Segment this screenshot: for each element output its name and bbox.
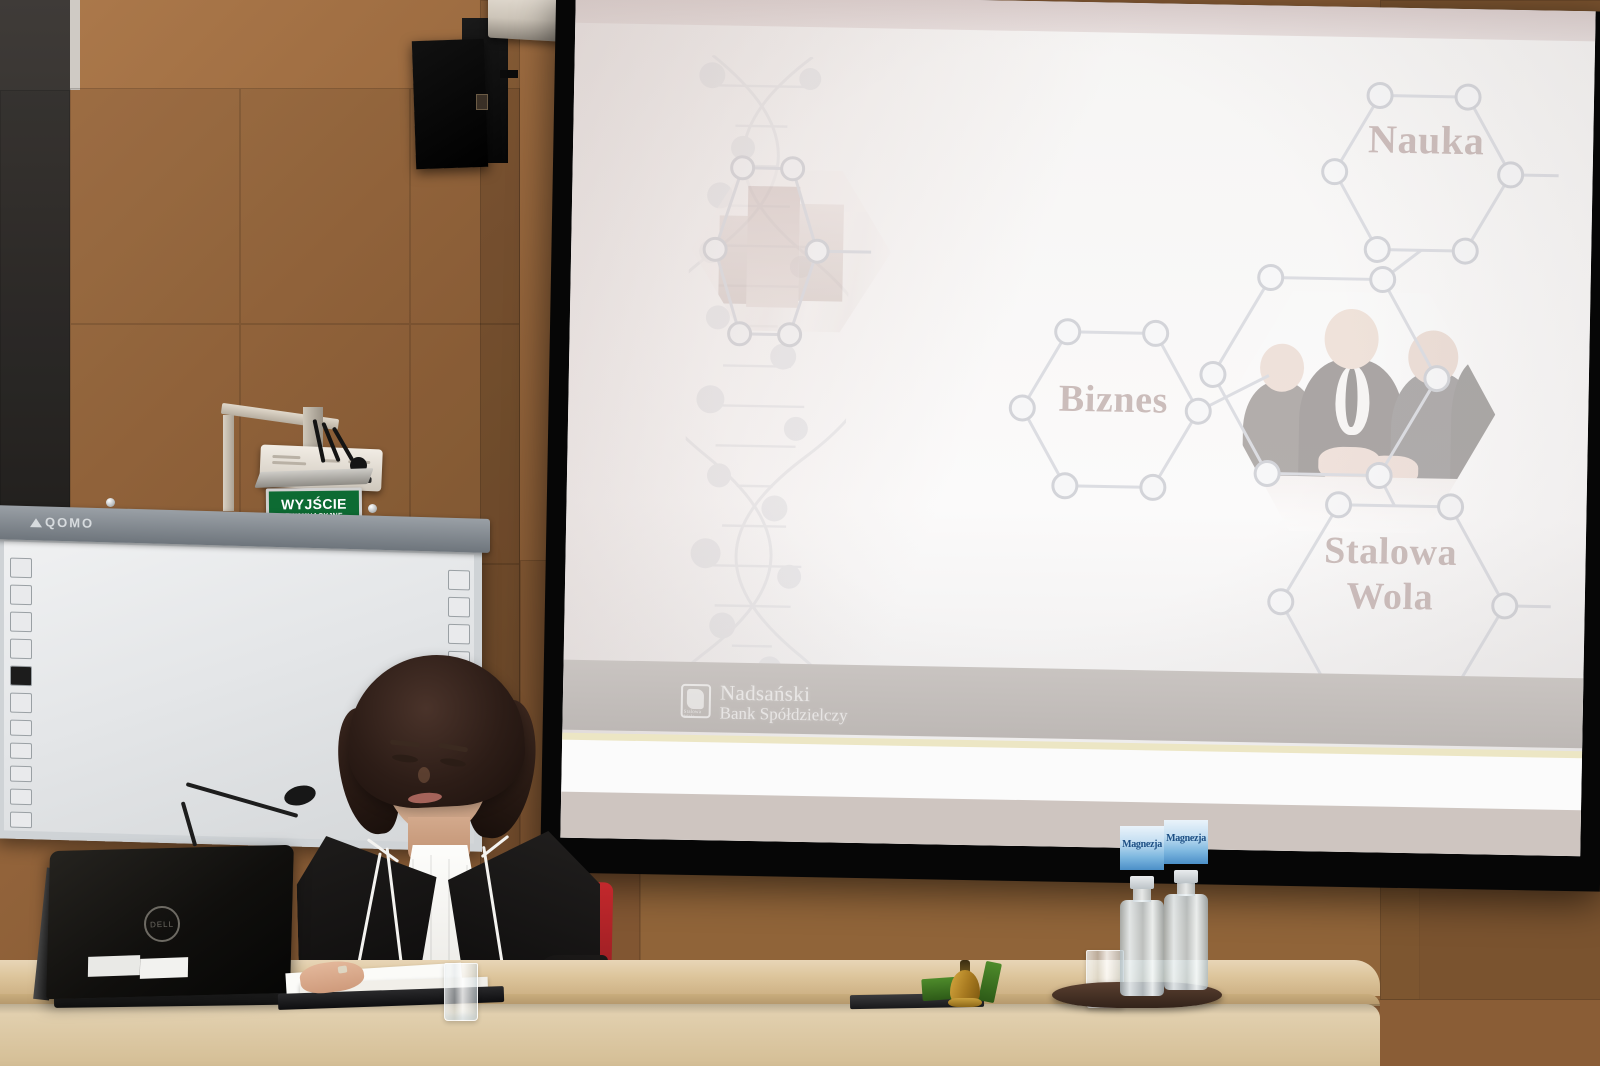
bottle-body (1164, 894, 1208, 990)
presenter-nose (418, 767, 430, 783)
bell-lip (948, 998, 982, 1007)
bank-logo-line2: Bank Spółdzielczy (719, 704, 847, 725)
slide-label-stalowa-line1: Stalowa (1265, 527, 1516, 576)
wall-panel (0, 90, 70, 560)
bottle-neck (1177, 882, 1195, 896)
bottle-cap[interactable] (1174, 870, 1198, 883)
whiteboard-tool-button[interactable] (448, 597, 470, 618)
bank-logo-line1: Nadsański (720, 681, 848, 706)
laptop-sticker (88, 955, 140, 977)
slide-label-nauka: Nauka (1311, 114, 1542, 165)
wall-panel (240, 88, 410, 324)
whiteboard-tool-button[interactable] (448, 570, 470, 591)
slide-label-stalowa-line2: Wola (1265, 572, 1516, 621)
bottle-cap[interactable] (1130, 876, 1154, 889)
screen-surface: Nauka Biznes Stalowa Wola Stal (560, 0, 1595, 856)
presenter-hair (344, 650, 528, 811)
whiteboard-tool-button[interactable] (10, 639, 32, 660)
scene-root: Nauka Biznes Stalowa Wola Stal (0, 0, 1600, 1066)
shield-icon: Stalowa Wola (681, 684, 712, 719)
bank-logo: Stalowa Wola Nadsański Bank Spółdzielczy (680, 681, 848, 725)
bank-logo-text: Nadsański Bank Spółdzielczy (719, 681, 848, 724)
whiteboard-left-toolbar[interactable] (10, 558, 36, 836)
whiteboard-screw (106, 498, 115, 507)
whiteboard-pen-slot[interactable] (10, 789, 32, 806)
dell-laptop[interactable]: DELL (48, 848, 310, 1010)
projection-screen: Nauka Biznes Stalowa Wola Stal (488, 0, 1600, 894)
bottle-neck (1133, 888, 1151, 902)
bank-logo-micro: Stalowa Wola (684, 710, 711, 720)
projector-post (223, 415, 234, 511)
whiteboard-tool-button[interactable] (10, 612, 32, 633)
whiteboard-pen-slot[interactable] (10, 812, 32, 829)
mic-capsule (282, 782, 318, 808)
bottle-label: Magnezja (1164, 820, 1208, 864)
presenter-ring (338, 965, 348, 973)
mic-arm-lower (181, 801, 198, 846)
exit-sign-line1: WYJŚCIE (281, 496, 347, 511)
bottle-body (1120, 900, 1164, 996)
whiteboard-brand-text: QOMO (45, 514, 94, 530)
bottle-label: Magnezja (1120, 826, 1164, 870)
projector-vent (272, 461, 306, 465)
whiteboard-tool-button[interactable] (10, 558, 32, 579)
mic-arm (186, 782, 299, 818)
whiteboard-brand-label: QOMO (30, 514, 94, 531)
projected-slide: Nauka Biznes Stalowa Wola Stal (560, 0, 1595, 856)
whiteboard-pen-slot[interactable] (10, 766, 32, 783)
brass-bell[interactable] (948, 960, 982, 1010)
water-glass[interactable] (444, 963, 478, 1021)
whiteboard-tool-button[interactable] (10, 693, 32, 714)
shield-inner (687, 689, 704, 709)
slide-label-biznes: Biznes (1008, 376, 1219, 424)
whiteboard-tool-button[interactable] (448, 624, 470, 645)
speaker-badge (476, 94, 488, 110)
bottle-label-text: Magnezja (1122, 839, 1162, 850)
whiteboard-tool-button[interactable] (10, 666, 32, 687)
whiteboard-pen-slot[interactable] (10, 720, 32, 737)
laptop-sticker (140, 957, 188, 979)
projector-vent (272, 455, 300, 459)
whiteboard-screw (368, 504, 377, 513)
slide-label-stalowa-wola: Stalowa Wola (1265, 527, 1517, 621)
whiteboard-pen-slot[interactable] (10, 743, 32, 760)
whiteboard-tool-button[interactable] (10, 585, 32, 606)
bottle-label-text: Magnezja (1166, 833, 1206, 844)
wall-panel (70, 88, 240, 324)
brand-triangle-icon (30, 518, 42, 527)
